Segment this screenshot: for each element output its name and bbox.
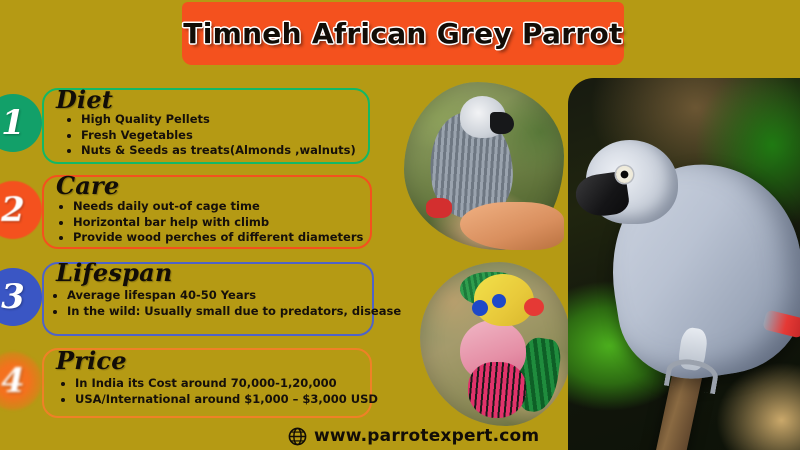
list-item: Provide wood perches of different diamet… — [56, 230, 363, 246]
section-lifespan-bullets: Average lifespan 40-50 Years In the wild… — [50, 288, 401, 319]
section-price: 4 Price In India its Cost around 70,000-… — [0, 348, 380, 424]
globe-icon — [288, 427, 307, 446]
list-item: Average lifespan 40-50 Years — [50, 288, 401, 304]
section-care-heading: Care — [56, 171, 119, 200]
budgie-cheek-left — [472, 300, 488, 316]
section-price-bullets: In India its Cost around 70,000-1,20,000… — [58, 376, 378, 407]
page-title: Timneh African Grey Parrot — [183, 17, 622, 50]
section-care: 2 Care Needs daily out-of cage time Hori… — [0, 175, 380, 255]
section-lifespan: 3 Lifespan Average lifespan 40-50 Years … — [0, 262, 380, 342]
list-item: Nuts & Seeds as treats(Almonds ,walnuts) — [64, 143, 356, 159]
section-diet-number-badge: 1 — [0, 94, 42, 152]
list-item: USA/International around $1,000 – $3,000… — [58, 392, 378, 408]
blob-photo-background — [420, 262, 572, 426]
section-diet: 1 Diet High Quality Pellets Fresh Vegeta… — [0, 88, 380, 170]
grey-parrot-hand-photo — [404, 82, 564, 250]
section-diet-number: 1 — [1, 106, 25, 140]
footer-website[interactable]: www.parrotexpert.com — [288, 424, 539, 448]
list-item: High Quality Pellets — [64, 112, 356, 128]
list-item: In the wild: Usually small due to predat… — [50, 304, 401, 320]
blob-parrot-tail — [426, 198, 452, 218]
budgie-cheek-right — [492, 294, 506, 308]
list-item: Fresh Vegetables — [64, 128, 356, 144]
budgie-beak — [524, 298, 544, 316]
blob-human-hand — [460, 202, 564, 250]
list-item: In India its Cost around 70,000-1,20,000 — [58, 376, 378, 392]
section-care-number-badge: 2 — [0, 181, 42, 239]
section-price-number: 4 — [1, 364, 25, 398]
section-diet-heading: Diet — [56, 85, 113, 114]
hero-parrot-eye — [616, 166, 633, 183]
title-banner: Timneh African Grey Parrot — [182, 2, 624, 65]
section-price-heading: Price — [56, 346, 127, 375]
blob-photo-background — [404, 82, 564, 250]
list-item: Horizontal bar help with climb — [56, 215, 363, 231]
section-lifespan-heading: Lifespan — [56, 258, 172, 287]
section-lifespan-number-badge: 3 — [0, 268, 42, 326]
budgie-belly — [468, 362, 526, 418]
section-lifespan-number: 3 — [1, 280, 25, 314]
section-care-bullets: Needs daily out-of cage time Horizontal … — [56, 199, 363, 246]
hero-parrot-photo — [568, 78, 800, 450]
section-care-number: 2 — [1, 193, 25, 227]
colorful-budgie-photo — [420, 262, 572, 426]
section-price-number-badge: 4 — [0, 352, 42, 410]
footer-url-text: www.parrotexpert.com — [314, 426, 539, 446]
section-diet-bullets: High Quality Pellets Fresh Vegetables Nu… — [64, 112, 356, 159]
list-item: Needs daily out-of cage time — [56, 199, 363, 215]
blob-parrot-beak — [490, 112, 514, 134]
